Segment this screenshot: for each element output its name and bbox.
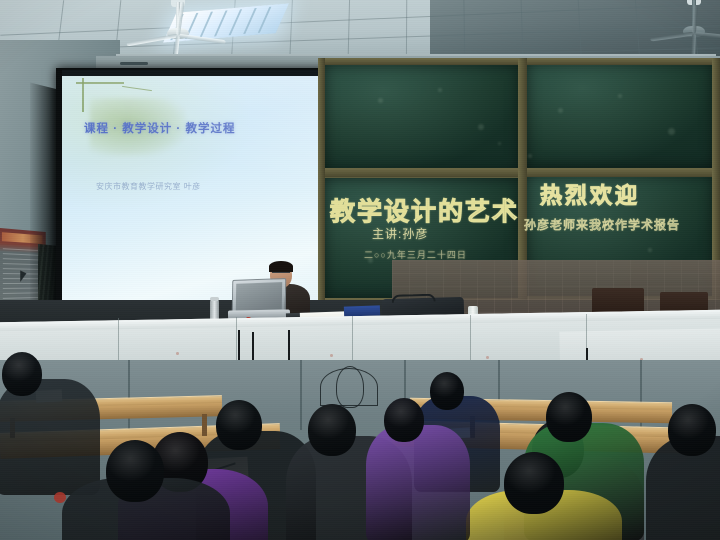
audience-member (366, 398, 470, 540)
audience-member-head (504, 452, 564, 514)
audience-member-body (366, 425, 470, 540)
presenter-hair (269, 261, 293, 272)
audience-member-head (384, 398, 424, 442)
desk-screw-hole (330, 354, 333, 357)
audience-member-head (308, 404, 356, 456)
chalk-dust-speck (668, 128, 675, 135)
chalk-dust-speck (378, 98, 383, 103)
blackboard-welcome-subtitle: 孙彦老师来我校作学术报告 (524, 216, 680, 233)
chalk-dust-speck (648, 248, 652, 252)
wall-panel-seam (128, 360, 130, 430)
chalk-outline-shape (336, 366, 364, 408)
audience-member (62, 440, 230, 540)
desk-screw-hole (176, 352, 179, 355)
blackboard-panel-upper-right (526, 62, 714, 168)
chalk-dust-speck (618, 94, 622, 98)
slide-branch-graphic (122, 86, 152, 91)
ceiling-fan-right (676, 0, 712, 36)
poster-arrow-icon (20, 270, 26, 282)
blackboard-main-title: 教学设计的艺术 (330, 192, 519, 228)
blackboard-welcome-title: 热烈欢迎 (540, 178, 640, 210)
presenter-glasses-icon (272, 272, 290, 276)
chalk-dust-speck (438, 88, 442, 92)
ceiling-fan-left (158, 2, 198, 42)
jacket-logo-patch (54, 492, 66, 503)
blackboard-panel-upper-left (324, 64, 520, 172)
audience-member-head (546, 392, 592, 442)
blackboard-frame-left (318, 58, 325, 308)
audience-member-head (2, 352, 42, 396)
lecture-hall-photo: 课程 · 教学设计 · 教学过程 安庆市教育教学研究室 叶彦 教学设计的艺术 主… (0, 0, 720, 540)
chalk-dust-speck (558, 108, 563, 113)
slide-title: 课程 · 教学设计 · 教学过程 (84, 120, 300, 136)
audience-member-head (668, 404, 716, 456)
desk-screw-hole (486, 356, 489, 359)
screen-mount-bracket (120, 62, 148, 65)
audience-member (646, 404, 720, 540)
chalk-dust-speck (528, 154, 532, 158)
blackboard-presenter-line: 主讲:孙彦 (372, 225, 428, 242)
chalk-dust-speck (478, 124, 484, 130)
audience-member-head (106, 440, 164, 502)
slide-branch-graphic (82, 78, 84, 112)
chalk-dust-speck (498, 142, 501, 145)
slide-subtitle: 安庆市教育教学研究室 叶彦 (96, 181, 286, 192)
audience-member (466, 452, 622, 540)
